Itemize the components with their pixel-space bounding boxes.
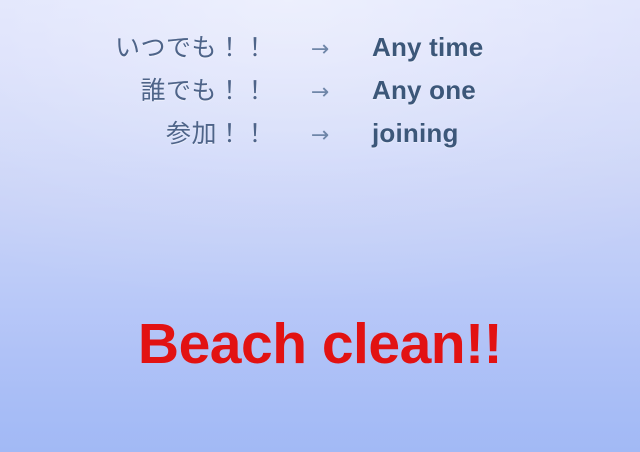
poster-canvas: いつでも！！ → Any time 誰でも！！ → Any one 参加！！ →… <box>0 0 640 452</box>
main-title: Beach clean!! <box>0 315 640 375</box>
slogan-japanese-text: いつでも！！ <box>0 28 268 64</box>
slogan-english-text: Any one <box>372 75 632 106</box>
slogan-japanese-text: 参加！！ <box>0 114 268 150</box>
slogan-english-text: Any time <box>372 32 632 63</box>
slogan-list: いつでも！！ → Any time 誰でも！！ → Any one 参加！！ →… <box>0 28 640 157</box>
right-arrow-icon: → <box>268 39 372 61</box>
right-arrow-icon: → <box>268 125 372 147</box>
slogan-row: 誰でも！！ → Any one <box>0 71 640 114</box>
right-arrow-icon: → <box>268 82 372 104</box>
slogan-row: いつでも！！ → Any time <box>0 28 640 71</box>
slogan-japanese-text: 誰でも！！ <box>0 71 268 107</box>
slogan-row: 参加！！ → joining <box>0 114 640 157</box>
slogan-english-text: joining <box>372 118 632 149</box>
